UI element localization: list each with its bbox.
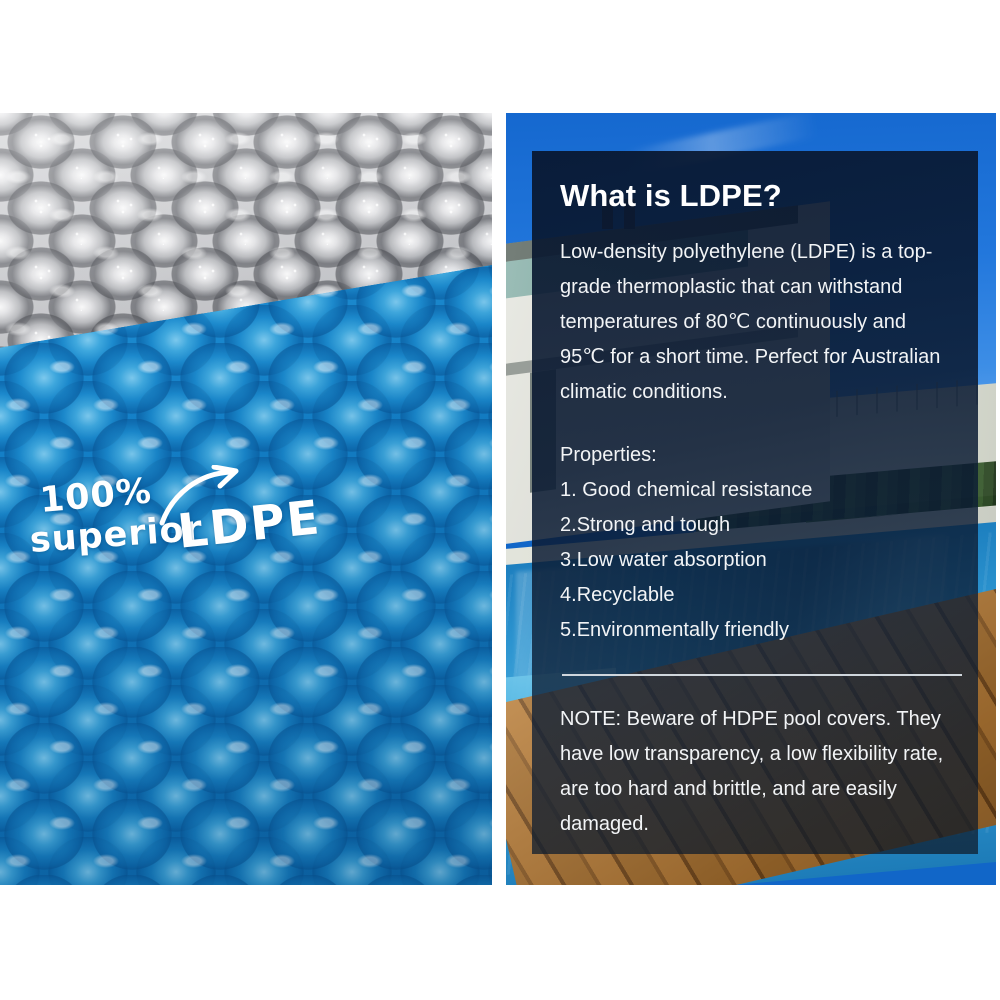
list-item: 3.Low water absorption — [560, 543, 950, 578]
list-item-number: 5. — [560, 613, 577, 648]
list-item-number: 4. — [560, 578, 577, 613]
list-item: 2.Strong and tough — [560, 508, 950, 543]
list-item-label: Good chemical resistance — [582, 479, 812, 501]
list-item-number: 1. — [560, 473, 577, 508]
list-item-label: Strong and tough — [577, 514, 730, 536]
pool-photo-info-panel: What is LDPE? Low-density polyethylene (… — [506, 113, 996, 885]
list-item-number: 3. — [560, 543, 577, 578]
list-item-label: Low water absorption — [577, 549, 767, 571]
list-item: 4.Recyclable — [560, 578, 950, 613]
bubble-wrap-product-photo: 100% superior LDPE — [0, 113, 492, 885]
properties-list: 1. Good chemical resistance 2.Strong and… — [560, 473, 950, 648]
list-item-label: Environmentally friendly — [577, 619, 789, 641]
list-item-label: Recyclable — [577, 584, 675, 606]
card-note: NOTE: Beware of HDPE pool covers. They h… — [560, 702, 950, 842]
list-item: 1. Good chemical resistance — [560, 473, 950, 508]
section-divider — [562, 674, 962, 676]
product-infographic: 100% superior LDPE What is LDPE? — [0, 0, 1000, 1000]
info-card: What is LDPE? Low-density polyethylene (… — [532, 151, 978, 854]
card-title: What is LDPE? — [560, 179, 950, 213]
card-paragraph: Low-density polyethylene (LDPE) is a top… — [560, 235, 950, 410]
list-item-number: 2. — [560, 508, 577, 543]
list-item: 5.Environmentally friendly — [560, 613, 950, 648]
properties-heading: Properties: — [560, 438, 950, 473]
